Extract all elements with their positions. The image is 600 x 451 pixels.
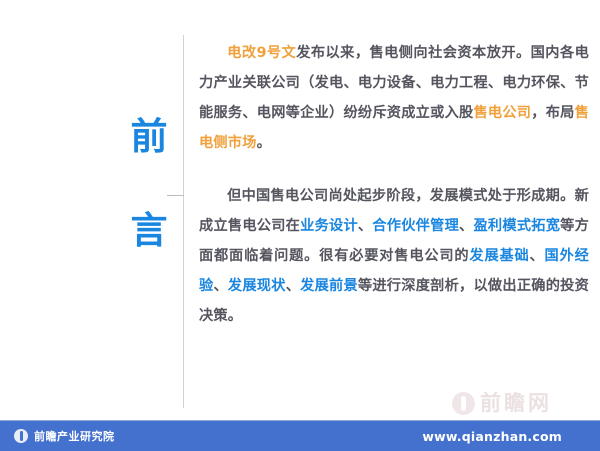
section-title-char-1: 前 <box>118 118 180 155</box>
highlight-term-orange: 售电公司 <box>473 105 531 121</box>
text-run: 、 <box>213 278 227 294</box>
text-run: ，布局 <box>531 105 574 121</box>
text-run: 、 <box>530 248 545 264</box>
text-run: 、 <box>358 218 372 234</box>
footer-bar: 前瞻产业研究院 www.qianzhan.com <box>0 420 600 451</box>
brand-logo-icon <box>14 429 28 443</box>
highlight-term-blue: 盈利模式拓宽 <box>473 218 560 234</box>
footer-url: www.qianzhan.com <box>422 429 562 444</box>
paragraph-2: 但中国售电公司尚处起步阶段，发展模式处于形成期。新成立售电公司在业务设计、合作伙… <box>199 181 589 331</box>
section-title-char-2: 言 <box>118 212 180 249</box>
highlight-term-blue: 发展现状 <box>228 278 286 294</box>
watermark-logo-icon <box>452 392 475 415</box>
body-content: 电改9号文发布以来，售电侧向社会资本放开。国内各电力产业关联公司（发电、电力设备… <box>199 38 589 331</box>
footer-brand-text: 前瞻产业研究院 <box>34 428 115 444</box>
vertical-divider <box>183 35 184 408</box>
highlight-term-orange: 电改9号文 <box>227 45 296 61</box>
watermark-text: 前瞻网 <box>480 393 552 414</box>
text-run: 、 <box>459 218 473 234</box>
text-run: 。 <box>257 135 271 151</box>
highlight-term-blue: 发展前景 <box>300 278 358 294</box>
footer-brand: 前瞻产业研究院 <box>14 428 115 444</box>
highlight-term-blue: 合作伙伴管理 <box>372 218 459 234</box>
watermark: 前瞻网 <box>452 392 552 415</box>
slide-canvas: 前 言 电改9号文发布以来，售电侧向社会资本放开。国内各电力产业关联公司（发电、… <box>0 0 600 450</box>
highlight-term-blue: 业务设计 <box>300 218 358 234</box>
text-run: 、 <box>286 278 300 294</box>
divider-tick-mark <box>167 195 184 196</box>
highlight-term-blue: 发展基础 <box>469 248 529 264</box>
section-title: 前 言 <box>118 118 180 249</box>
paragraph-1: 电改9号文发布以来，售电侧向社会资本放开。国内各电力产业关联公司（发电、电力设备… <box>199 38 589 158</box>
